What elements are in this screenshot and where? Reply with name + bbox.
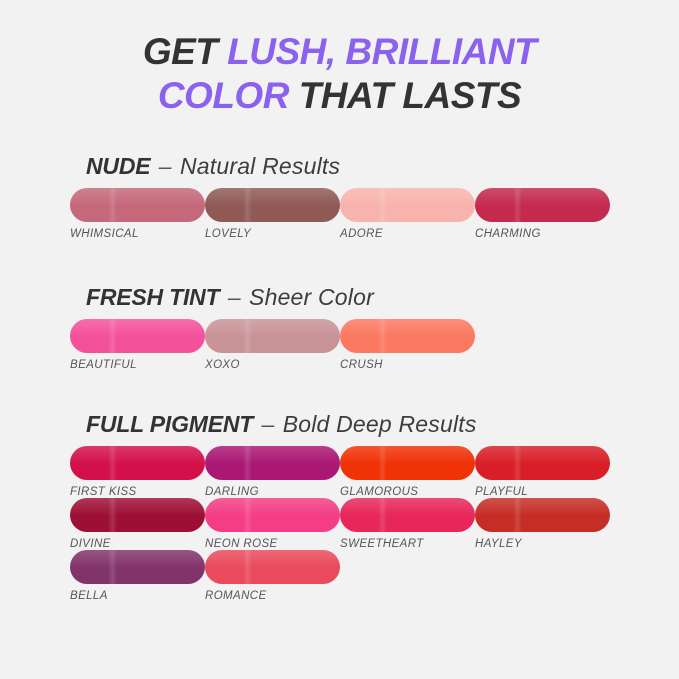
headline-color: COLOR — [158, 75, 299, 116]
headline-get: GET — [143, 31, 227, 72]
swatch-item[interactable]: BELLA — [70, 550, 205, 602]
swatch-name-label: HAYLEY — [475, 538, 610, 550]
swatch-item[interactable]: WHIMSICAL — [70, 188, 205, 240]
section-category: FRESH TINT — [86, 284, 219, 310]
page-headline: GET LUSH, BRILLIANT COLOR THAT LASTS — [0, 30, 679, 118]
swatch-name-label: DIVINE — [70, 538, 205, 550]
swatch-name-label: XOXO — [205, 359, 340, 371]
swatch-item[interactable]: CHARMING — [475, 188, 610, 240]
swatch-item[interactable]: LOVELY — [205, 188, 340, 240]
swatch-item[interactable]: DARLING — [205, 446, 340, 498]
headline-lush-brilliant: LUSH, BRILLIANT — [227, 31, 536, 72]
swatch-item[interactable]: CRUSH — [340, 319, 475, 371]
swatch-color-chip[interactable] — [205, 498, 340, 532]
swatch-row: WHIMSICALLOVELYADORECHARMING — [70, 188, 679, 240]
swatch-grid: WHIMSICALLOVELYADORECHARMING — [0, 188, 679, 240]
swatch-color-chip[interactable] — [340, 319, 475, 353]
section-description: Natural Results — [180, 153, 340, 179]
swatch-item[interactable]: FIRST KISS — [70, 446, 205, 498]
section-title: FULL PIGMENT – Bold Deep Results — [86, 410, 679, 438]
section-category: NUDE — [86, 153, 150, 179]
section-dash: – — [253, 411, 283, 437]
swatch-color-chip[interactable] — [205, 188, 340, 222]
swatch-item[interactable]: XOXO — [205, 319, 340, 371]
swatch-color-chip[interactable] — [340, 498, 475, 532]
swatch-item[interactable]: ROMANCE — [205, 550, 340, 602]
swatch-name-label: BEAUTIFUL — [70, 359, 205, 371]
swatch-row: FIRST KISSDARLINGGLAMOROUSPLAYFUL — [70, 446, 679, 498]
section-description: Sheer Color — [249, 284, 374, 310]
headline-that-lasts: THAT LASTS — [299, 75, 521, 116]
swatch-color-chip[interactable] — [205, 319, 340, 353]
swatch-item[interactable]: GLAMOROUS — [340, 446, 475, 498]
headline-line-1: GET LUSH, BRILLIANT — [0, 30, 679, 74]
swatch-item[interactable]: HAYLEY — [475, 498, 610, 550]
swatch-row: BELLAROMANCE — [70, 550, 679, 602]
swatch-item[interactable]: NEON ROSE — [205, 498, 340, 550]
swatch-name-label: GLAMOROUS — [340, 486, 475, 498]
swatch-color-chip[interactable] — [70, 188, 205, 222]
swatch-name-label: DARLING — [205, 486, 340, 498]
swatch-color-chip[interactable] — [475, 188, 610, 222]
swatch-name-label: WHIMSICAL — [70, 228, 205, 240]
shade-chart-page: GET LUSH, BRILLIANT COLOR THAT LASTS NUD… — [0, 0, 679, 679]
swatch-color-chip[interactable] — [475, 498, 610, 532]
section-description: Bold Deep Results — [283, 411, 477, 437]
section-dash: – — [219, 284, 249, 310]
swatch-row: BEAUTIFULXOXOCRUSH — [70, 319, 679, 371]
swatch-color-chip[interactable] — [70, 319, 205, 353]
swatch-color-chip[interactable] — [340, 188, 475, 222]
section-title: NUDE – Natural Results — [86, 152, 679, 180]
swatch-color-chip[interactable] — [70, 550, 205, 584]
swatch-name-label: FIRST KISS — [70, 486, 205, 498]
swatch-grid: BEAUTIFULXOXOCRUSH — [0, 319, 679, 371]
swatch-item[interactable]: DIVINE — [70, 498, 205, 550]
swatch-name-label: ADORE — [340, 228, 475, 240]
shade-section-full-pigment: FULL PIGMENT – Bold Deep ResultsFIRST KI… — [0, 410, 679, 602]
swatch-name-label: NEON ROSE — [205, 538, 340, 550]
swatch-name-label: PLAYFUL — [475, 486, 610, 498]
swatch-color-chip[interactable] — [70, 446, 205, 480]
swatch-name-label: CRUSH — [340, 359, 475, 371]
swatch-grid: FIRST KISSDARLINGGLAMOROUSPLAYFULDIVINEN… — [0, 446, 679, 602]
swatch-name-label: CHARMING — [475, 228, 610, 240]
section-dash: – — [150, 153, 180, 179]
swatch-item[interactable]: BEAUTIFUL — [70, 319, 205, 371]
swatch-color-chip[interactable] — [70, 498, 205, 532]
swatch-color-chip[interactable] — [205, 446, 340, 480]
swatch-row: DIVINENEON ROSESWEETHEARTHAYLEY — [70, 498, 679, 550]
section-category: FULL PIGMENT — [86, 411, 253, 437]
shade-section-fresh-tint: FRESH TINT – Sheer ColorBEAUTIFULXOXOCRU… — [0, 283, 679, 371]
swatch-color-chip[interactable] — [340, 446, 475, 480]
swatch-name-label: BELLA — [70, 590, 205, 602]
swatch-item[interactable]: PLAYFUL — [475, 446, 610, 498]
headline-line-2: COLOR THAT LASTS — [0, 74, 679, 118]
swatch-item[interactable]: SWEETHEART — [340, 498, 475, 550]
swatch-color-chip[interactable] — [475, 446, 610, 480]
swatch-item[interactable]: ADORE — [340, 188, 475, 240]
section-title: FRESH TINT – Sheer Color — [86, 283, 679, 311]
swatch-name-label: ROMANCE — [205, 590, 340, 602]
swatch-name-label: SWEETHEART — [340, 538, 475, 550]
swatch-name-label: LOVELY — [205, 228, 340, 240]
shade-section-nude: NUDE – Natural ResultsWHIMSICALLOVELYADO… — [0, 152, 679, 240]
swatch-color-chip[interactable] — [205, 550, 340, 584]
